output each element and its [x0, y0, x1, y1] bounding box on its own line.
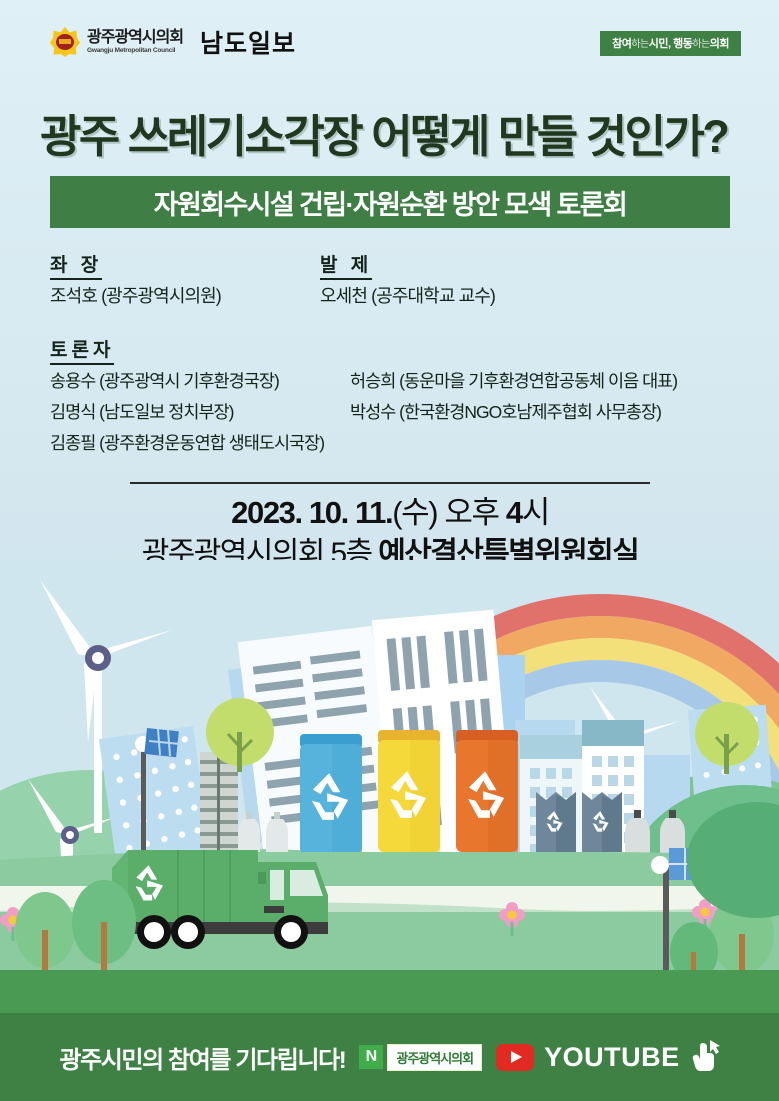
naver-n-icon: N	[359, 1045, 383, 1069]
slogan-text-1: 참여	[612, 38, 631, 50]
subtitle-text: 자원회수시설 건립·자원순환 방안 모색 토론회	[154, 183, 627, 222]
poster-footer: 광주시민의 참여를 기다립니다! N 광주광역시의회 YOUTUBE	[0, 1013, 779, 1101]
panelist: 김명식 (남도일보 정치부장)	[50, 402, 350, 424]
recycling-bin-yellow	[378, 730, 440, 852]
slogan-text-3: 시민, 행동	[649, 38, 693, 50]
panel-role-label: 토론자	[50, 340, 114, 365]
poster-root: 광주광역시의회 Gwangju Metropolitan Council 남도일…	[0, 0, 779, 1101]
press-name: 남도일보	[200, 24, 296, 60]
event-date-day: (수) 오후	[392, 495, 498, 530]
event-date: 2023. 10. 11.(수) 오후 4시	[130, 494, 650, 533]
panel-block: 토론자 송용수 (광주광역시 기후환경국장) 김명식 (남도일보 정치부장) 김…	[50, 340, 750, 461]
presenter-block: 발 제 오세천 (공주대학교 교수)	[320, 255, 700, 307]
panel-list-left: 송용수 (광주광역시 기후환경국장) 김명식 (남도일보 정치부장) 김종필 (…	[50, 371, 350, 464]
slogan-text-4: 하는	[692, 39, 709, 50]
slogan-badge: 참여하는시민, 행동하는의회	[600, 31, 741, 56]
panelist: 김종필 (광주환경운동연합 생태도시국장)	[50, 433, 350, 455]
slogan-text-5: 의회	[710, 38, 729, 50]
subtitle-bar: 자원회수시설 건립·자원순환 방안 모색 토론회	[50, 176, 730, 228]
council-name-en: Gwangju Metropolitan Council	[87, 48, 183, 55]
event-time-hour: 4	[506, 495, 522, 530]
hand-pointer-cursor-icon	[688, 1040, 720, 1074]
recycling-bins	[300, 730, 518, 854]
chair-name: 조석호 (광주광역시의원)	[50, 285, 330, 308]
youtube-play-icon	[496, 1044, 534, 1071]
panelist: 허승희 (동운마을 기후환경연합공동체 이음 대표)	[350, 371, 750, 393]
poster-header: 광주광역시의회 Gwangju Metropolitan Council 남도일…	[0, 0, 779, 74]
event-date-ymd: 2023. 10. 11.	[231, 495, 392, 530]
presenter-role-label: 발 제	[320, 255, 372, 280]
eco-city-illustration	[0, 560, 779, 1030]
paper-stack	[200, 752, 238, 860]
youtube-badge[interactable]: YOUTUBE	[496, 1040, 720, 1074]
youtube-label: YOUTUBE	[544, 1042, 680, 1073]
footer-message: 광주시민의 참여를 기다립니다!	[59, 1040, 345, 1075]
council-name-ko: 광주광역시의회	[87, 30, 183, 46]
page-title: 광주 쓰레기소각장 어떻게 만들 것인가?	[40, 100, 740, 165]
chair-block: 좌 장 조석호 (광주광역시의원)	[50, 255, 330, 307]
panelist: 박성수 (한국환경NGO호남제주협회 사무총장)	[350, 402, 750, 424]
brand-lockup: 광주광역시의회 Gwangju Metropolitan Council 남도일…	[50, 24, 296, 60]
panelist: 송용수 (광주광역시 기후환경국장)	[50, 371, 350, 393]
presenter-name: 오세천 (공주대학교 교수)	[320, 285, 700, 308]
slogan-text-2: 하는	[631, 39, 648, 50]
event-time-unit: 시	[522, 495, 549, 530]
illustration-svg	[0, 560, 779, 1030]
panel-list-right: 허승희 (동운마을 기후환경연합공동체 이음 대표) 박성수 (한국환경NGO호…	[350, 371, 750, 433]
gwangju-council-emblem-icon	[50, 27, 80, 57]
naver-blog-badge[interactable]: N 광주광역시의회	[359, 1044, 482, 1071]
recycling-bin-orange	[456, 730, 518, 852]
council-name: 광주광역시의회 Gwangju Metropolitan Council	[87, 30, 183, 55]
recycling-bin-blue	[300, 734, 362, 854]
naver-blog-label: 광주광역시의회	[387, 1044, 482, 1071]
chair-role-label: 좌 장	[50, 255, 102, 280]
